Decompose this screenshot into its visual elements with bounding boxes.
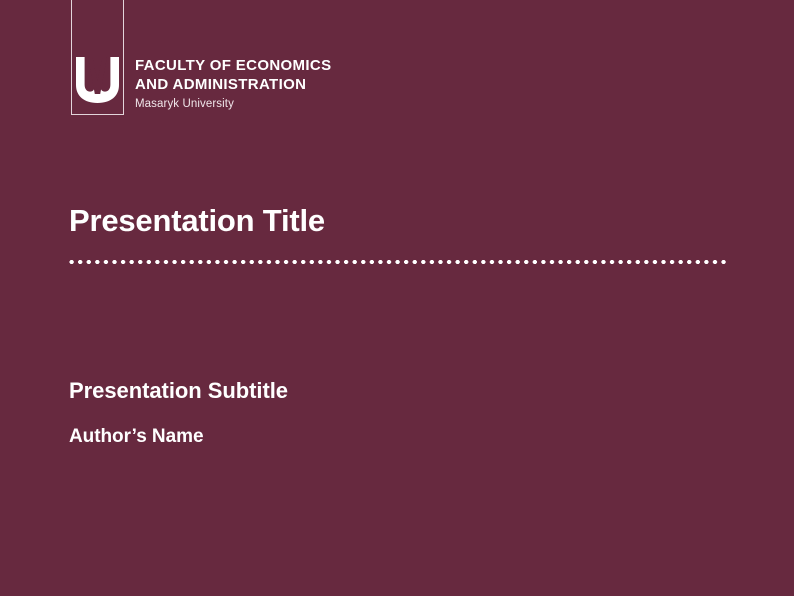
author-name: Author’s Name xyxy=(69,426,749,449)
presentation-title-slide: FACULTY OF ECONOMICS AND ADMINISTRATION … xyxy=(0,0,794,596)
logo-wordmark: FACULTY OF ECONOMICS AND ADMINISTRATION … xyxy=(135,57,475,110)
presentation-subtitle: Presentation Subtitle xyxy=(69,378,749,404)
presentation-title: Presentation Title xyxy=(69,203,749,240)
dotted-divider xyxy=(69,259,728,265)
faculty-name: FACULTY OF ECONOMICS AND ADMINISTRATION xyxy=(135,57,475,94)
logo-lockup: FACULTY OF ECONOMICS AND ADMINISTRATION … xyxy=(0,0,500,130)
title-block: Presentation Title xyxy=(69,203,749,240)
masaryk-university-m-shield-logo-icon xyxy=(76,57,119,103)
subtitle-block: Presentation Subtitle Author’s Name xyxy=(69,378,749,449)
university-name: Masaryk University xyxy=(135,98,475,110)
